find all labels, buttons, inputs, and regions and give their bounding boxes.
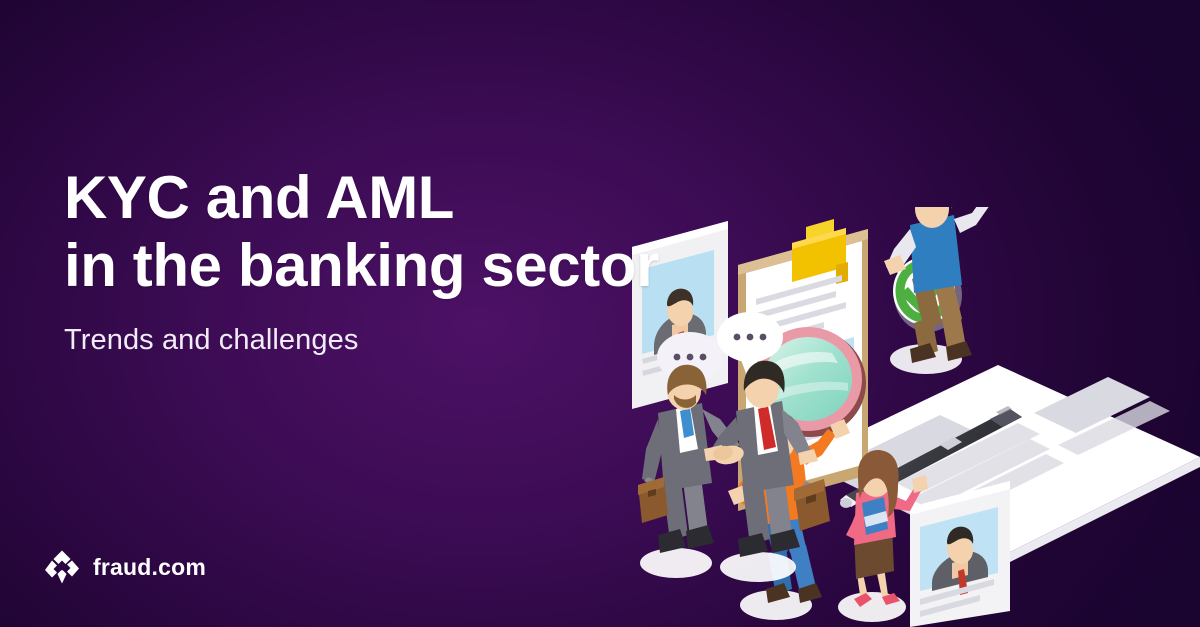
- brand-logo[interactable]: fraud.com: [44, 549, 206, 585]
- briefcase-left: [638, 477, 668, 523]
- kyc-aml-banner: KYC and AML in the banking sector Trends…: [0, 0, 1200, 627]
- headline-block: KYC and AML in the banking sector Trends…: [64, 164, 764, 357]
- page-subtitle: Trends and challenges: [64, 324, 764, 357]
- businessman-left-handshake: [638, 365, 754, 578]
- businessman-right-handshake: [704, 361, 830, 582]
- brand-logo-text: fraud.com: [93, 554, 206, 581]
- page-title: KYC and AML in the banking sector: [64, 164, 764, 300]
- fraud-diamond-f-mark-icon: [44, 549, 80, 585]
- briefcase-right: [794, 479, 830, 531]
